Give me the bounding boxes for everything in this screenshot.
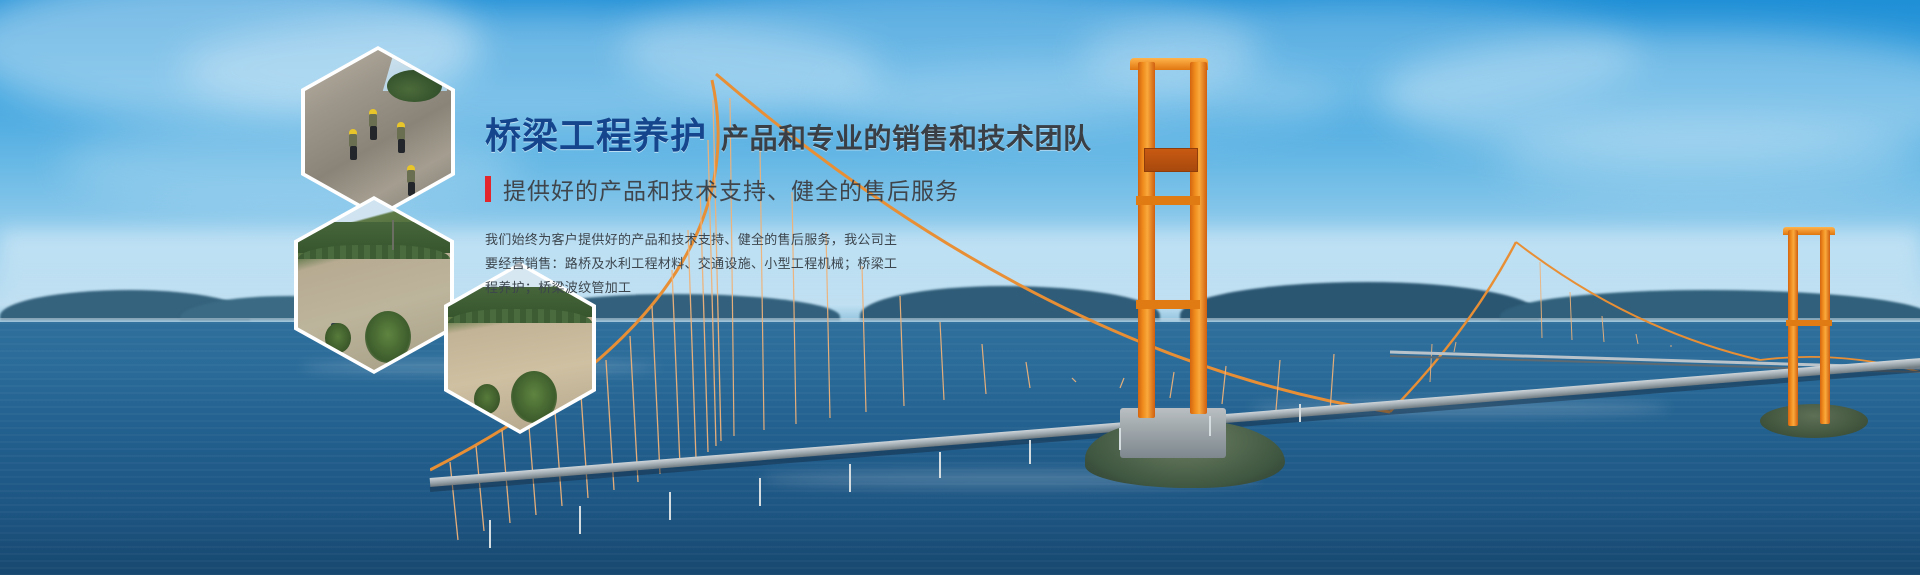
photo-utility-pole	[392, 220, 394, 250]
subheadline-row: 提供好的产品和技术支持、健全的售后服务	[485, 172, 1025, 206]
hex-photo-inner	[305, 50, 451, 214]
page-title: 桥梁工程养护	[485, 118, 707, 154]
worker-legs	[408, 182, 415, 196]
photo-shrub	[474, 384, 500, 414]
photo-shrub	[325, 323, 351, 353]
banner-text-block: 桥梁工程养护 产品和专业的销售和技术团队 提供好的产品和技术支持、健全的售后服务…	[485, 118, 1025, 313]
banner-description: 我们始终为客户提供好的产品和技术支持、健全的售后服务，我公司主要经营销售：路桥及…	[485, 228, 905, 300]
hero-banner: 桥梁工程养护 产品和专业的销售和技术团队 提供好的产品和技术支持、健全的售后服务…	[0, 0, 1920, 575]
worker-torso	[349, 134, 357, 147]
accent-bar	[485, 176, 491, 202]
photo-tree	[365, 311, 411, 363]
worker-legs	[398, 139, 405, 153]
photo-tree	[511, 371, 557, 423]
subheadline-text: 提供好的产品和技术支持、健全的售后服务	[503, 172, 959, 206]
headline-row: 桥梁工程养护 产品和专业的销售和技术团队	[485, 118, 1025, 154]
photo-rock-face-mesh	[305, 50, 451, 214]
worker-legs	[370, 126, 377, 140]
headline-secondary: 产品和专业的销售和技术团队	[721, 125, 1092, 153]
worker-legs	[350, 146, 357, 160]
worker-torso	[407, 170, 415, 183]
photo-forest-band	[298, 222, 450, 253]
